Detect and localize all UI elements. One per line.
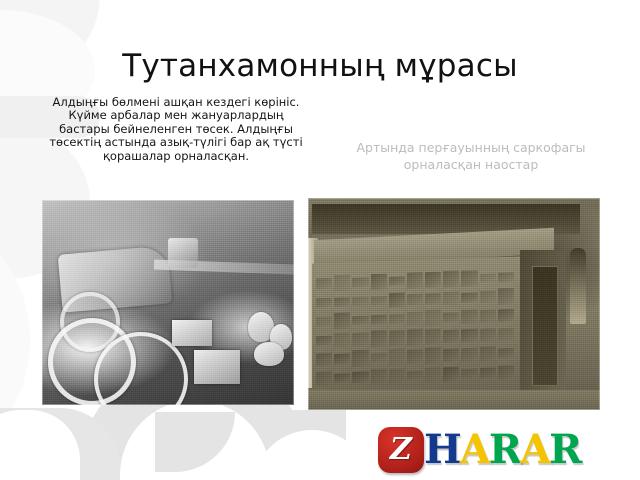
zharar-logo-letter-a1: A — [460, 430, 490, 470]
deco-swirl-hook — [155, 412, 235, 472]
zharar-logo-letter-r2: R — [549, 430, 581, 470]
antechamber-photo — [42, 200, 294, 405]
zharar-logo-letter-a2: A — [520, 430, 550, 470]
left-caption-text: Алдыңғы бөлмені ашқан кездегі көрініс. К… — [48, 96, 304, 163]
deco-circle-left-lower — [0, 235, 30, 445]
zharar-logo-letter-h: H — [424, 430, 461, 470]
deco-swirl-tail — [228, 410, 346, 480]
naos-shrine-photo — [308, 198, 600, 410]
deco-swirl-tail-cut — [252, 430, 372, 480]
zharar-logo-badge: Z — [378, 427, 424, 473]
zharar-logo-letter-r1: R — [489, 430, 521, 470]
presentation-slide: Тутанхамонның мұрасы Алдыңғы бөлмені ашқ… — [0, 0, 640, 480]
zharar-logo[interactable]: Z H A R A R — [378, 424, 581, 476]
zharar-logo-badge-letter: Z — [390, 435, 412, 465]
deco-corner-bar — [0, 408, 120, 480]
slide-title: Тутанхамонның мұрасы — [0, 48, 640, 84]
antechamber-photo-border — [42, 200, 294, 405]
right-caption-text: Артында перғауынның саркофагы орналасқан… — [340, 139, 602, 173]
deco-swirl-ring-inner — [120, 400, 270, 480]
deco-corner-bar-cut — [0, 410, 80, 480]
naos-photo-border — [308, 198, 600, 410]
